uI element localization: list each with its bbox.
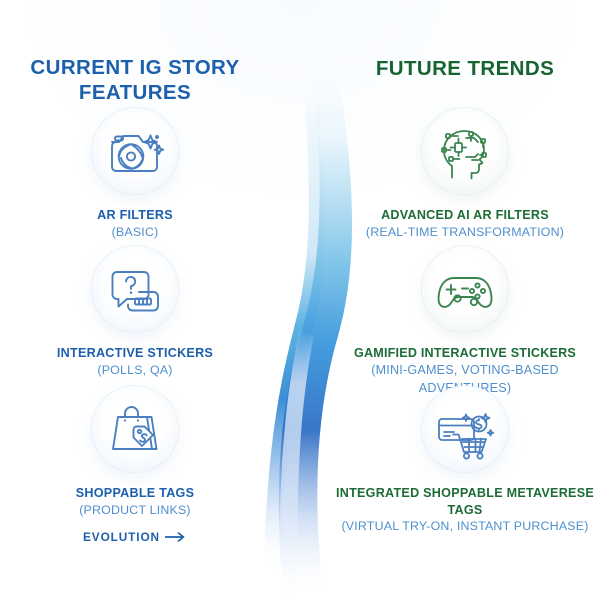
right-column: FUTURE TRENDS: [330, 0, 600, 600]
ai-head-circuit-icon: [422, 108, 508, 194]
item-title: INTEGRATED SHOPPABLE METAVERESE TAGS: [330, 485, 600, 518]
left-column: CURRENT IG STORY FEATURES: [0, 0, 270, 600]
icon-circle: [92, 108, 178, 194]
item-title: INTERACTIVE STICKERS: [0, 345, 270, 362]
item-subtitle: (REAL-TIME TRANSFORMATION): [330, 224, 600, 241]
left-item-interactive-stickers: INTERACTIVE STICKERS (POLLS, QA): [0, 246, 270, 378]
icon-circle: [422, 246, 508, 332]
right-column-heading: FUTURE TRENDS: [330, 56, 600, 81]
left-column-heading: CURRENT IG STORY FEATURES: [0, 55, 270, 105]
camera-ar-filter-icon: [92, 108, 178, 194]
shopping-cart-card-icon: [422, 386, 508, 472]
caption: ADVANCED AI AR FILTERS (REAL-TIME TRANSF…: [330, 207, 600, 240]
evolution-footer: EVOLUTION: [0, 530, 270, 545]
arrow-right-icon: [165, 531, 187, 545]
game-controller-icon: [422, 246, 508, 332]
item-title: AR FILTERS: [0, 207, 270, 224]
item-title: SHOPPABLE TAGS: [0, 485, 270, 502]
caption: AR FILTERS (BASIC): [0, 207, 270, 240]
left-item-ar-filters: AR FILTERS (BASIC): [0, 108, 270, 240]
right-item-shoppable-metaverse-tags: INTEGRATED SHOPPABLE METAVERESE TAGS (VI…: [330, 386, 600, 535]
icon-circle: [92, 386, 178, 472]
icon-circle: [422, 386, 508, 472]
item-subtitle: (POLLS, QA): [0, 362, 270, 379]
item-title: ADVANCED AI AR FILTERS: [330, 207, 600, 224]
caption: INTEGRATED SHOPPABLE METAVERESE TAGS (VI…: [330, 485, 600, 535]
right-item-advanced-ai-ar-filters: ADVANCED AI AR FILTERS (REAL-TIME TRANSF…: [330, 108, 600, 240]
item-subtitle: (VIRTUAL TRY-ON, INSTANT PURCHASE): [330, 518, 600, 535]
item-title: GAMIFIED INTERACTIVE STICKERS: [354, 346, 576, 360]
item-subtitle: (BASIC): [0, 224, 270, 241]
caption: INTERACTIVE STICKERS (POLLS, QA): [0, 345, 270, 378]
caption: SHOPPABLE TAGS (PRODUCT LINKS): [0, 485, 270, 518]
icon-circle: [92, 246, 178, 332]
icon-circle: [422, 108, 508, 194]
speech-bubble-question-poll-icon: [92, 246, 178, 332]
evolution-label: EVOLUTION: [83, 530, 160, 544]
infographic-canvas: CURRENT IG STORY FEATURES: [0, 0, 600, 600]
left-item-shoppable-tags: SHOPPABLE TAGS (PRODUCT LINKS): [0, 386, 270, 518]
right-item-gamified-stickers: GAMIFIED INTERACTIVE STICKERS (MINI-GAME…: [330, 246, 600, 397]
item-subtitle: (PRODUCT LINKS): [0, 502, 270, 519]
shopping-bag-price-tag-icon: [92, 386, 178, 472]
